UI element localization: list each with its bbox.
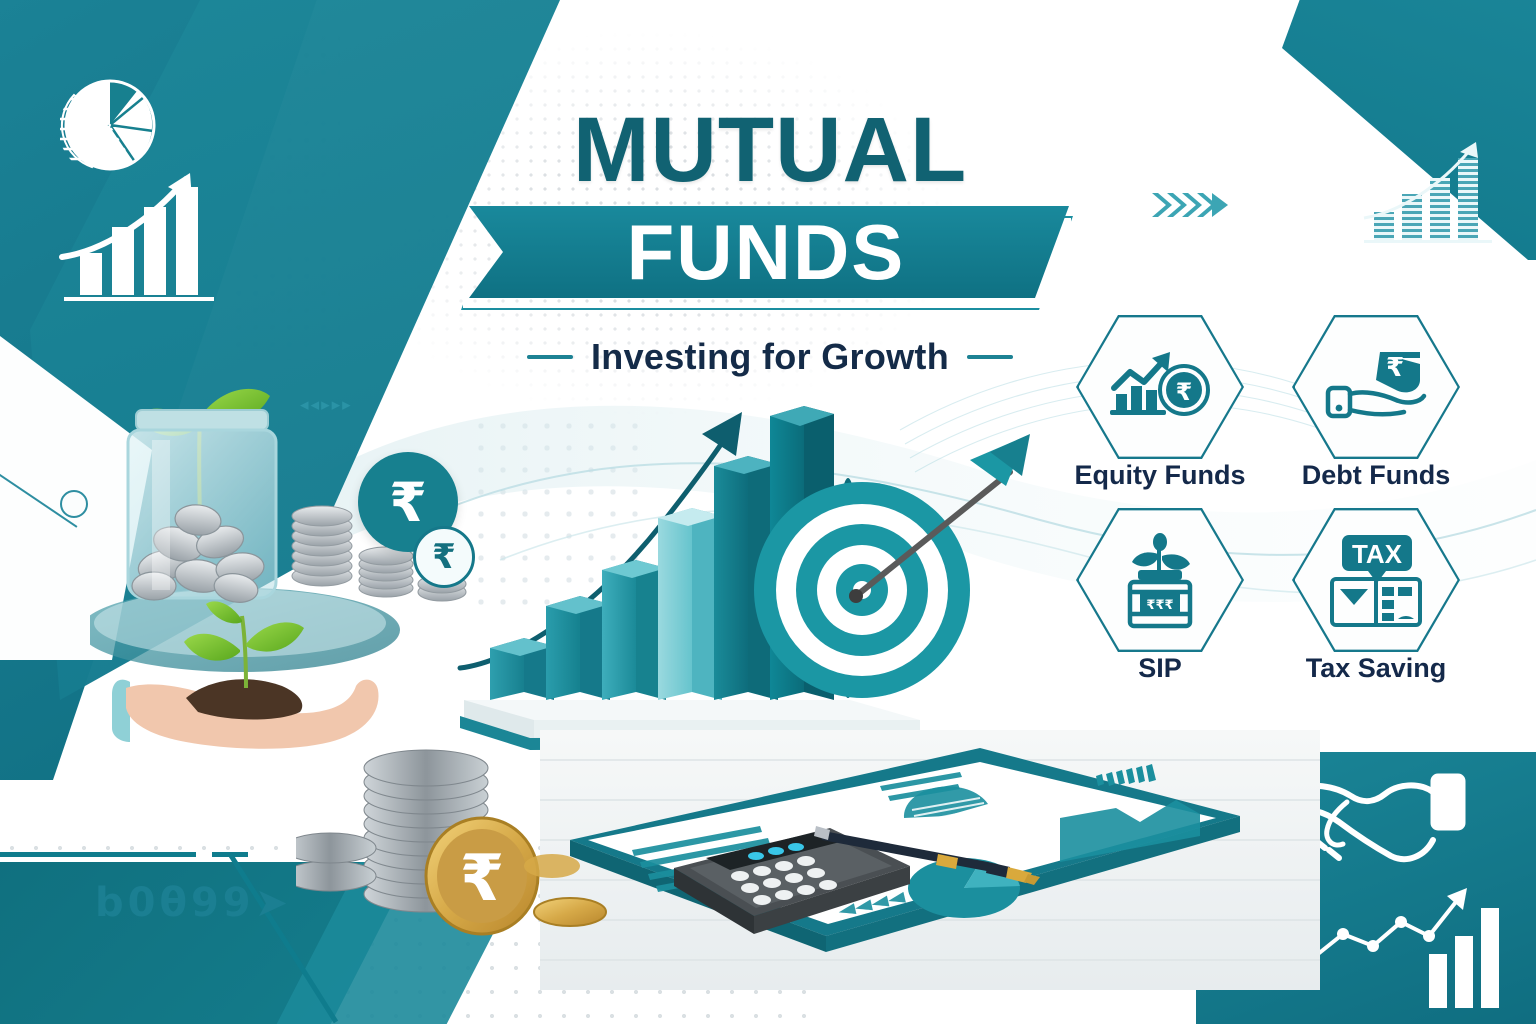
growth-chart-rupee-icon: ₹ <box>1108 348 1212 426</box>
gold-rupee-coin-icon: ₹ <box>426 818 538 934</box>
line-bar-chart-arrow-icon <box>1307 888 1499 1008</box>
decor-circle-left <box>60 490 88 518</box>
gold-coin-icon <box>534 898 606 926</box>
decor-glyph-bottom-left: b0θ99➤ <box>95 880 292 926</box>
svg-text:₹: ₹ <box>460 842 505 916</box>
chevron-strip <box>1150 190 1234 220</box>
poster-canvas: MUTUAL FUNDS Investing for Growth <box>0 0 1536 1024</box>
page-title-line2: FUNDS <box>627 213 912 291</box>
category-badge-grid: ₹ Equity Funds ₹ <box>1063 312 1473 684</box>
subtitle-row: Investing for Growth <box>455 336 1085 378</box>
coin-jar-plant-icon <box>128 410 276 606</box>
chevron-right-icon <box>1150 190 1234 220</box>
hex-frame: ₹ <box>1292 312 1460 462</box>
category-label: Debt Funds <box>1302 460 1451 491</box>
title-block: MUTUAL FUNDS Investing for Growth <box>455 104 1085 378</box>
svg-text:₹₹₹: ₹₹₹ <box>1146 598 1173 613</box>
mini-arrow-decor: ◂◂▸▸▸ <box>300 395 353 415</box>
bar-chart-arrow-icon <box>62 173 214 301</box>
category-row-2: ₹₹₹ SIP TAX <box>1063 505 1473 684</box>
hex-frame: ₹ <box>1076 312 1244 462</box>
tax-tag-icon: TAX <box>1324 531 1428 629</box>
ribbon-fill: FUNDS <box>469 206 1069 298</box>
category-row-1: ₹ Equity Funds ₹ <box>1063 312 1473 491</box>
striped-bar-chart-arrow-icon <box>1360 130 1510 250</box>
hand-rupee-note-icon: ₹ <box>1324 346 1428 428</box>
category-label: SIP <box>1138 653 1182 684</box>
hex-frame: ₹₹₹ <box>1076 505 1244 655</box>
subtitle-dash-right <box>967 355 1013 359</box>
pie-chart-icon <box>60 81 160 169</box>
title-ribbon: FUNDS <box>455 202 1085 310</box>
page-title-line1: MUTUAL <box>455 104 1085 196</box>
category-equity-funds[interactable]: ₹ Equity Funds <box>1063 312 1257 491</box>
subtitle-dash-left <box>527 355 573 359</box>
svg-text:TAX: TAX <box>1352 539 1403 569</box>
svg-text:₹: ₹ <box>1386 353 1404 383</box>
savings-jar-plant-icon: ₹₹₹ <box>1114 530 1206 630</box>
category-label: Tax Saving <box>1306 653 1447 684</box>
bar-4 <box>658 508 722 700</box>
category-tax-saving[interactable]: TAX Ta <box>1279 505 1473 684</box>
coin-pile: ₹ <box>296 716 676 966</box>
bar-2 <box>546 596 610 700</box>
category-debt-funds[interactable]: ₹ Debt Funds <box>1279 312 1473 491</box>
page-subtitle: Investing for Growth <box>591 336 949 378</box>
category-sip[interactable]: ₹₹₹ SIP <box>1063 505 1257 684</box>
hex-frame: TAX <box>1292 505 1460 655</box>
top-left-icon-cluster <box>40 75 240 325</box>
bottom-left-rule-1 <box>0 852 196 857</box>
svg-text:₹: ₹ <box>1176 378 1193 406</box>
category-label: Equity Funds <box>1075 460 1246 491</box>
bar-3 <box>602 560 666 700</box>
